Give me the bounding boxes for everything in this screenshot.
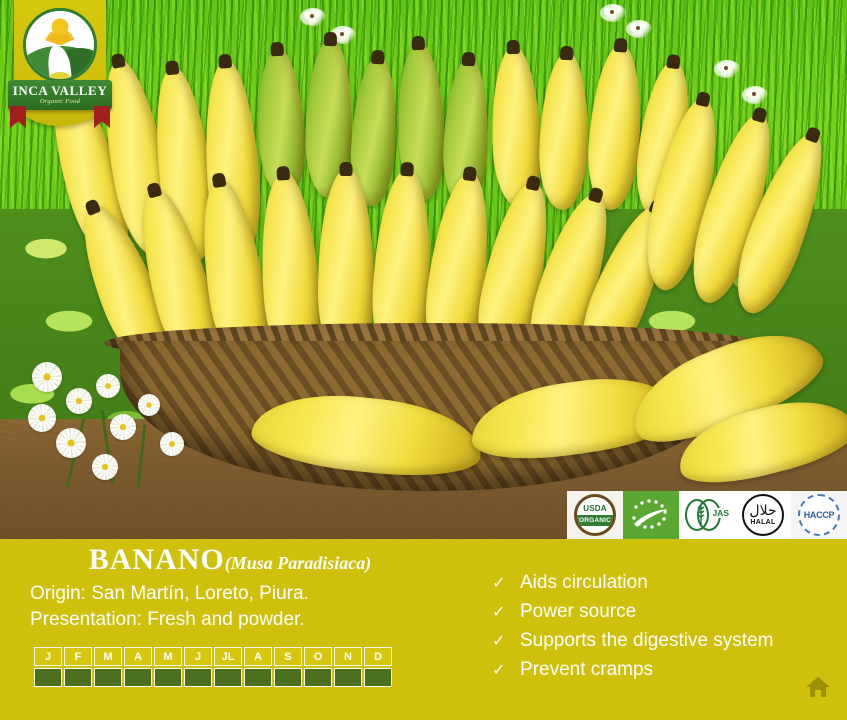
check-icon: ✓ bbox=[492, 570, 504, 598]
benefit-label: Prevent cramps bbox=[520, 656, 653, 684]
benefit-label: Supports the digestive system bbox=[520, 627, 773, 655]
month-header-j-0: J bbox=[34, 647, 62, 666]
eu-organic-badge bbox=[623, 491, 679, 539]
month-cell-f-1 bbox=[64, 668, 92, 687]
month-header-m-4: M bbox=[154, 647, 182, 666]
month-header-jl-6: JL bbox=[214, 647, 242, 666]
halal-label: HALAL bbox=[750, 519, 775, 526]
usda-organic-badge: USDA ORGANIC bbox=[567, 491, 623, 539]
month-header-m-2: M bbox=[94, 647, 122, 666]
month-cell-n-10 bbox=[334, 668, 362, 687]
origin-value: San Martín, Loreto, Piura. bbox=[91, 583, 309, 604]
blossom bbox=[300, 8, 326, 26]
month-cell-a-3 bbox=[124, 668, 152, 687]
presentation-label: Presentation: bbox=[30, 609, 142, 630]
brand-tagline: Organic Food bbox=[40, 99, 80, 106]
benefit-item: ✓Power source bbox=[492, 598, 773, 627]
blossom bbox=[626, 20, 652, 38]
haccp-badge: HACCP bbox=[791, 491, 847, 539]
origin-label: Origin: bbox=[30, 583, 86, 604]
month-availability-row bbox=[34, 668, 392, 687]
month-header-a-3: A bbox=[124, 647, 152, 666]
benefit-label: Aids circulation bbox=[520, 569, 648, 597]
month-cell-s-8 bbox=[274, 668, 302, 687]
product-title: BANANO bbox=[89, 543, 225, 576]
brand-name: INCA VALLEY bbox=[13, 84, 108, 97]
home-icon[interactable] bbox=[805, 676, 831, 698]
month-cell-m-4 bbox=[154, 668, 182, 687]
jas-badge: JAS bbox=[679, 491, 735, 539]
presentation-line: Presentation: Fresh and powder. bbox=[30, 607, 309, 633]
sun-icon bbox=[52, 19, 69, 36]
brand-logo[interactable]: INCA VALLEY Organic Food bbox=[14, 0, 106, 126]
month-header-d-11: D bbox=[364, 647, 392, 666]
haccp-label: HACCP bbox=[804, 510, 835, 520]
month-cell-o-9 bbox=[304, 668, 332, 687]
daisy-cluster bbox=[10, 358, 220, 493]
certification-badges: USDA ORGANIC bbox=[567, 491, 847, 539]
month-header-o-9: O bbox=[304, 647, 332, 666]
month-cell-jl-6 bbox=[214, 668, 242, 687]
halal-badge: حلال HALAL bbox=[735, 491, 791, 539]
usda-line2: ORGANIC bbox=[577, 515, 613, 526]
product-meta: Origin: San Martín, Loreto, Piura. Prese… bbox=[30, 581, 309, 633]
month-header-row: JFMAMJJLASOND bbox=[34, 647, 392, 666]
month-header-s-8: S bbox=[274, 647, 302, 666]
benefit-item: ✓Aids circulation bbox=[492, 569, 773, 598]
month-header-n-10: N bbox=[334, 647, 362, 666]
origin-line: Origin: San Martín, Loreto, Piura. bbox=[30, 581, 309, 607]
presentation-value: Fresh and powder. bbox=[147, 609, 304, 630]
benefit-label: Power source bbox=[520, 598, 636, 626]
blossom bbox=[742, 86, 768, 104]
product-photo: INCA VALLEY Organic Food USDA ORGANIC bbox=[0, 0, 847, 539]
benefits-list: ✓Aids circulation✓Power source✓Supports … bbox=[492, 569, 773, 685]
info-panel: BANANO(Musa Paradisiaca) Origin: San Mar… bbox=[0, 539, 847, 720]
product-title-row: BANANO(Musa Paradisiaca) bbox=[0, 543, 460, 577]
jas-label: JAS bbox=[711, 508, 730, 518]
month-header-f-1: F bbox=[64, 647, 92, 666]
wheat-icon bbox=[696, 504, 706, 526]
blossom bbox=[714, 60, 740, 78]
month-cell-j-0 bbox=[34, 668, 62, 687]
product-sheet: INCA VALLEY Organic Food USDA ORGANIC bbox=[0, 0, 847, 720]
check-icon: ✓ bbox=[492, 628, 504, 656]
brand-ribbon: INCA VALLEY Organic Food bbox=[8, 80, 112, 110]
month-header-j-5: J bbox=[184, 647, 212, 666]
logo-emblem-icon bbox=[23, 8, 97, 82]
benefit-item: ✓Supports the digestive system bbox=[492, 627, 773, 656]
eu-leaf-icon bbox=[628, 498, 674, 532]
month-cell-j-5 bbox=[184, 668, 212, 687]
benefit-item: ✓Prevent cramps bbox=[492, 656, 773, 685]
check-icon: ✓ bbox=[492, 657, 504, 685]
check-icon: ✓ bbox=[492, 599, 504, 627]
month-cell-a-7 bbox=[244, 668, 272, 687]
month-header-a-7: A bbox=[244, 647, 272, 666]
blossom bbox=[600, 4, 626, 22]
month-cell-d-11 bbox=[364, 668, 392, 687]
product-scientific-name: (Musa Paradisiaca) bbox=[225, 553, 372, 573]
month-cell-m-2 bbox=[94, 668, 122, 687]
availability-calendar: JFMAMJJLASOND bbox=[32, 645, 394, 689]
usda-line1: USDA bbox=[583, 505, 606, 513]
halal-arabic: حلال bbox=[749, 504, 776, 518]
